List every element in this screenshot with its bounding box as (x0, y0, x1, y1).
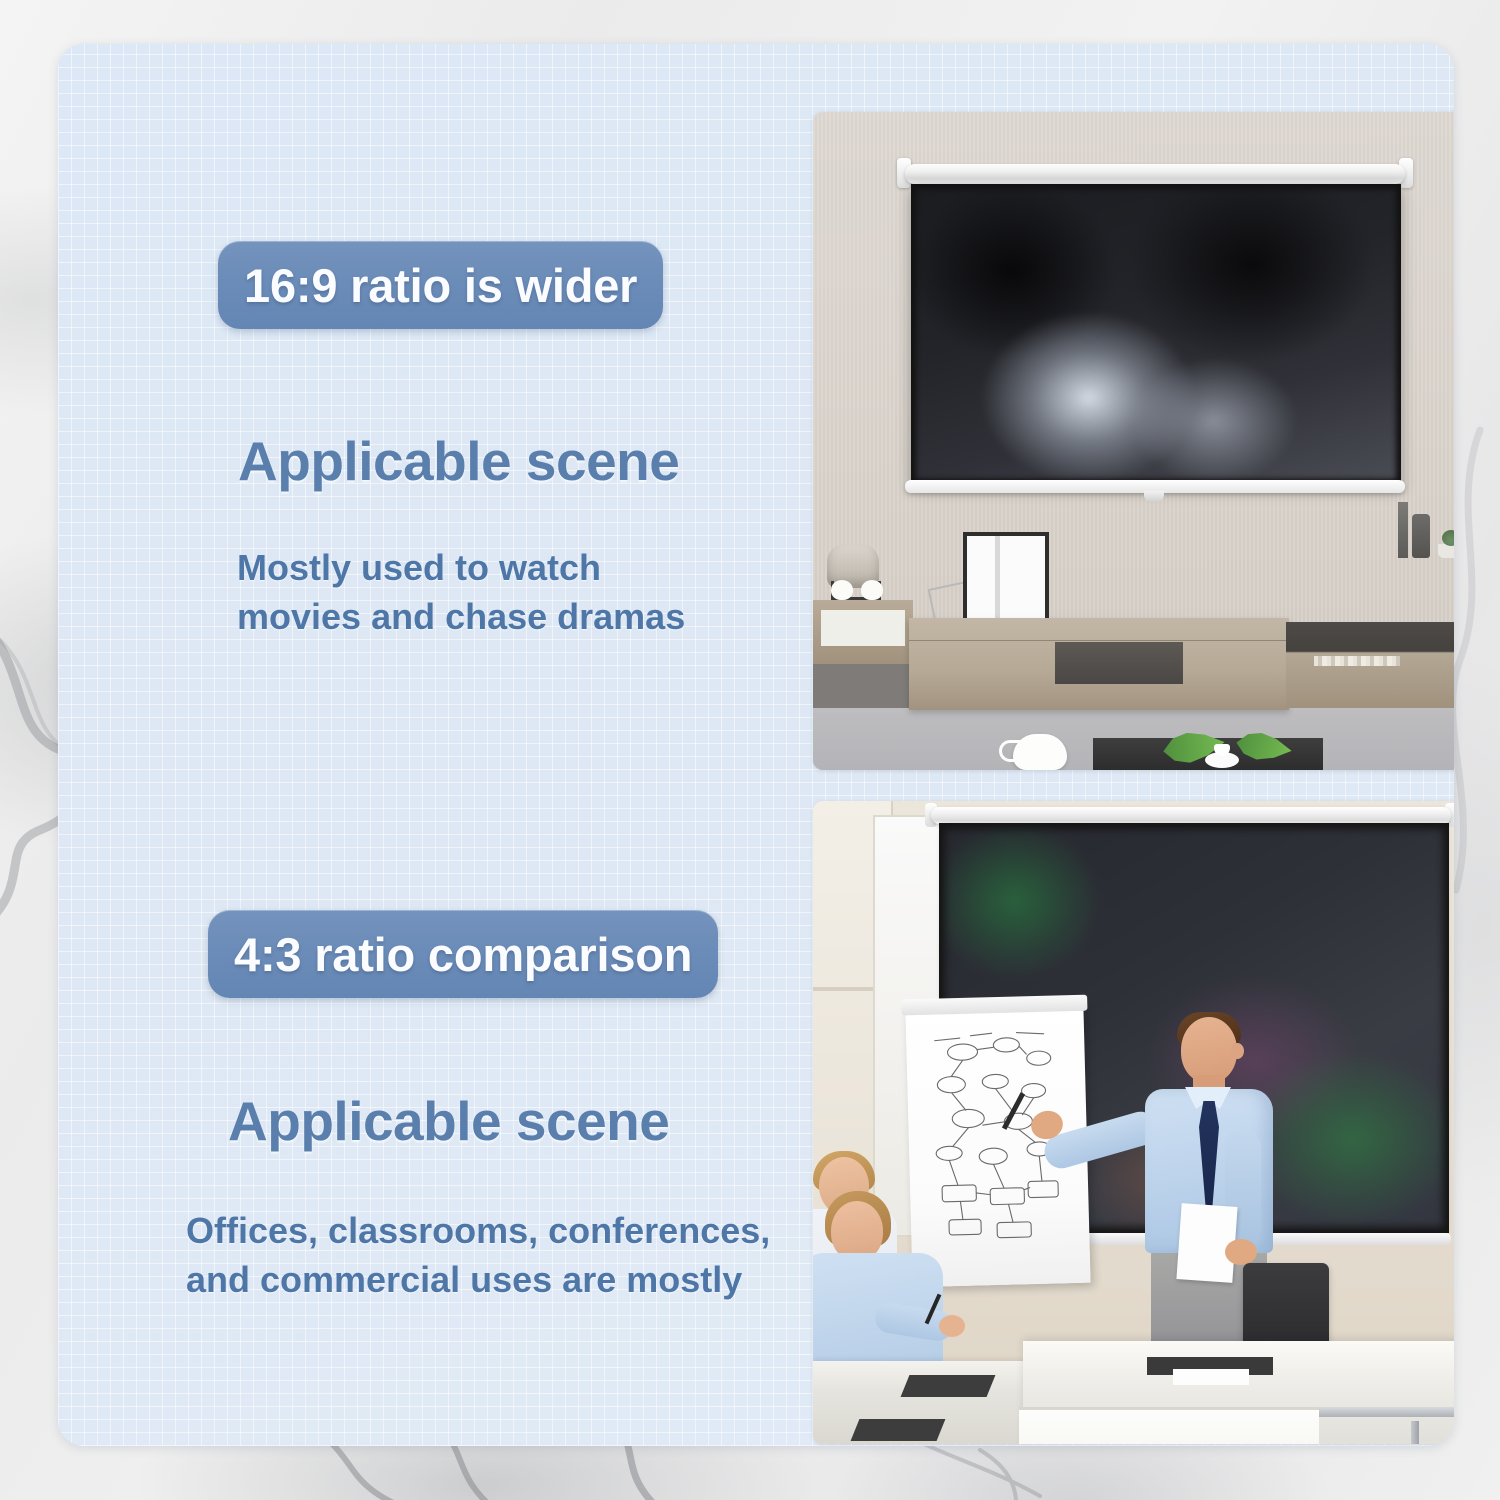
body-text-2: Offices, classrooms, conferences, and co… (186, 1207, 770, 1305)
projector-screen-surface (916, 189, 1396, 479)
heading-applicable-scene-1: Applicable scene (238, 429, 679, 493)
heading-applicable-scene-2: Applicable scene (228, 1089, 669, 1153)
living-room-scene (813, 112, 1454, 770)
badge-16-9-label: 16:9 ratio is wider (244, 258, 637, 313)
presenter-head (1181, 1017, 1237, 1083)
poster-stage: 16:9 ratio is wider Applicable scene Mos… (0, 0, 1500, 1500)
conf-screen-roller-casing (931, 807, 1451, 824)
badge-4-3-label: 4:3 ratio comparison (234, 927, 692, 982)
photo-conference-room: BRAND (813, 801, 1454, 1444)
tv-console (909, 618, 1289, 710)
decor-vase-left (831, 580, 853, 600)
presenter-ear (1231, 1043, 1244, 1059)
body-text-1: Mostly used to watch movies and chase dr… (237, 544, 685, 642)
projector-screen-frame (911, 184, 1401, 484)
body-text-1-line2: movies and chase dramas (237, 593, 685, 642)
decor-vessel-b (1398, 502, 1408, 558)
text-column: 16:9 ratio is wider Applicable scene Mos… (58, 44, 803, 1446)
desk-paper (1173, 1369, 1249, 1385)
side-cabinet (813, 600, 913, 708)
badge-4-3: 4:3 ratio comparison (208, 910, 718, 998)
cup-and-saucer (1205, 752, 1239, 768)
body-text-2-line1: Offices, classrooms, conferences, (186, 1207, 770, 1256)
badge-16-9: 16:9 ratio is wider (218, 241, 663, 329)
info-card: 16:9 ratio is wider Applicable scene Mos… (58, 44, 1454, 1446)
attendee-head (831, 1201, 883, 1261)
flip-chart-clamp (901, 995, 1087, 1016)
photo-living-room (813, 112, 1454, 770)
presenter-right-hand (1225, 1239, 1257, 1265)
screen-roller-casing (905, 164, 1405, 184)
potted-plant (1438, 544, 1454, 558)
decor-vase-right (861, 580, 883, 600)
desk-support-post (1411, 1421, 1419, 1444)
picture-frame (963, 532, 1049, 622)
body-text-1-line1: Mostly used to watch (237, 544, 685, 593)
body-text-2-line2: and commercial uses are mostly (186, 1256, 770, 1305)
decor-vessel-a (1412, 514, 1430, 558)
conference-room-scene: BRAND (813, 801, 1454, 1444)
teapot (1013, 734, 1067, 770)
right-shelf-unit (1286, 622, 1454, 708)
desk-front-panel (1019, 1407, 1319, 1444)
screen-pull-hook (1144, 491, 1164, 502)
desk-mat-1 (901, 1375, 996, 1397)
attendee-hand (939, 1315, 965, 1337)
desk-mat-2 (851, 1419, 946, 1441)
